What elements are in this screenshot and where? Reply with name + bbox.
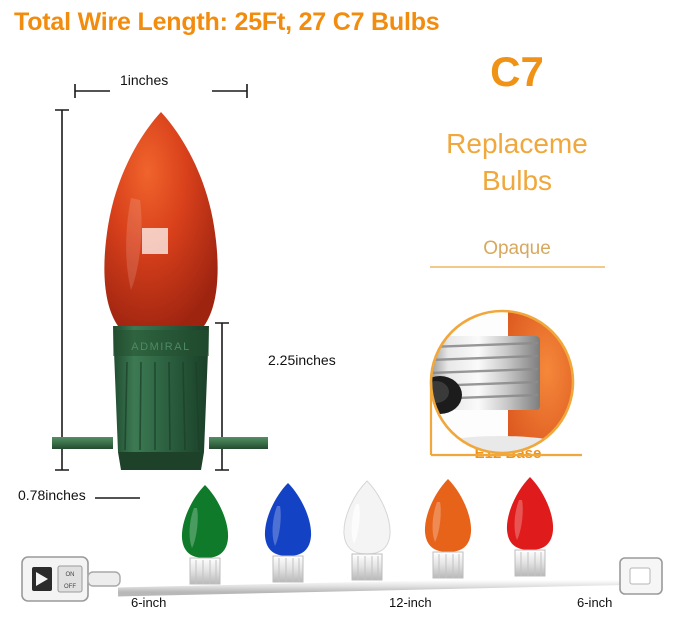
e12-base-callout [418,305,586,468]
strand-bulb-red [507,477,553,576]
svg-text:OFF: OFF [64,584,76,590]
strand-bulb-green [182,485,228,584]
product-infographic: Total Wire Length: 25Ft, 27 C7 Bulbs C7 … [0,0,679,626]
svg-text:ON: ON [66,572,75,578]
strand-end-connector [620,558,662,594]
infographic-artwork: ADMIRAL [0,0,679,626]
strand-plug: ON OFF [22,557,120,601]
strand-bulb-white [344,481,390,580]
hero-c7-bulb: ADMIRAL [52,112,268,470]
e12-screw-base [418,336,540,414]
light-strand: ON OFF [22,477,662,601]
strand-bulb-orange [425,479,471,578]
hero-socket-brand-text: ADMIRAL [131,341,190,353]
strand-bulb-blue [265,483,311,582]
